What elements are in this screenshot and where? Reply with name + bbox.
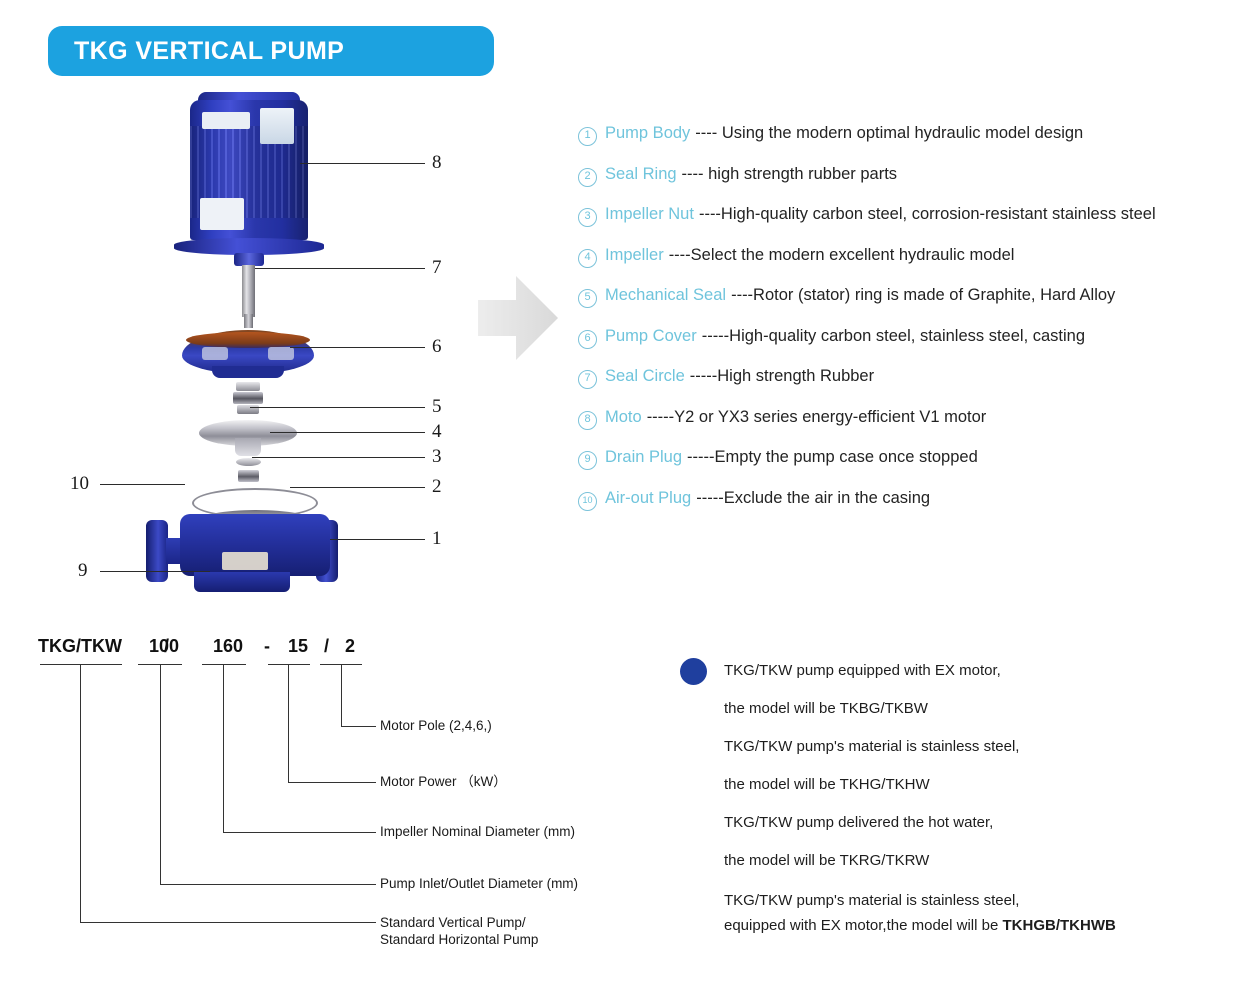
legend-desc-5: ----Rotor (stator) ring is made of Graph… <box>731 286 1115 305</box>
legend-label-6: Pump Cover <box>605 327 697 346</box>
legend-item-7: 7 Seal Circle -----High strength Rubber <box>578 367 1228 408</box>
legend-desc-10: -----Exclude the air in the casing <box>696 489 930 508</box>
bracket-underline-series <box>40 664 122 665</box>
callout-number-3: 3 <box>432 446 442 468</box>
bracket-underline-impeller <box>202 664 246 665</box>
leader-line-1 <box>330 539 425 540</box>
legend-number-6: 6 <box>578 330 597 349</box>
model-label-impeller: Impeller Nominal Diameter (mm) <box>380 823 575 840</box>
legend-label-4: Impeller <box>605 246 664 265</box>
impeller-hub <box>235 438 261 456</box>
model-segment-pole: 2 <box>332 636 368 657</box>
model-code-breakdown: TKG/TKW / 100 160 - 15 / 2 Motor Pole (2… <box>32 636 632 956</box>
bracket-run-impeller <box>223 832 376 833</box>
leader-line-3 <box>252 457 425 458</box>
note-line-3: TKG/TKW pump's material is stainless ste… <box>724 728 1225 766</box>
legend-desc-2: ---- high strength rubber parts <box>682 165 898 184</box>
leader-line-10 <box>100 484 185 485</box>
poster-canvas: TKG VERTICAL PUMP <box>0 0 1234 1000</box>
page-title: TKG VERTICAL PUMP <box>74 37 344 66</box>
impeller-part <box>199 420 297 446</box>
impeller-washer <box>236 458 261 466</box>
legend-number-9: 9 <box>578 451 597 470</box>
model-label-series: Standard Vertical Pump/ Standard Horizon… <box>380 914 538 948</box>
model-label-series-line1: Standard Vertical Pump/ <box>380 915 526 930</box>
legend-label-8: Moto <box>605 408 642 427</box>
note-line-6: the model will be TKRG/TKRW <box>724 842 1225 880</box>
legend-item-10: 10 Air-out Plug -----Exclude the air in … <box>578 489 1228 530</box>
leader-line-4 <box>270 432 425 433</box>
legend-label-10: Air-out Plug <box>605 489 691 508</box>
bracket-run-series <box>80 922 376 923</box>
model-label-power: Motor Power （kW） <box>380 773 507 790</box>
model-segment-impeller: 160 <box>200 636 256 657</box>
legend-desc-7: -----High strength Rubber <box>690 367 874 386</box>
parts-legend: 1 Pump Body ---- Using the modern optima… <box>578 124 1228 529</box>
callout-number-7: 7 <box>432 257 442 279</box>
legend-number-3: 3 <box>578 208 597 227</box>
model-segment-series: TKG/TKW <box>32 636 128 657</box>
bracket-drop-power <box>288 664 289 782</box>
legend-desc-8: -----Y2 or YX3 series energy-efficient V… <box>647 408 987 427</box>
legend-number-7: 7 <box>578 370 597 389</box>
legend-number-1: 1 <box>578 127 597 146</box>
motor-shaft <box>242 265 255 317</box>
shaft-tip <box>244 314 253 328</box>
page-title-badge: TKG VERTICAL PUMP <box>48 26 494 76</box>
bracket-drop-impeller <box>223 664 224 832</box>
flow-arrow-icon <box>478 272 558 364</box>
model-variant-notes: TKG/TKW pump equipped with EX motor, the… <box>680 652 1225 938</box>
legend-number-2: 2 <box>578 168 597 187</box>
legend-label-5: Mechanical Seal <box>605 286 726 305</box>
callout-number-1: 1 <box>432 528 442 550</box>
legend-item-1: 1 Pump Body ---- Using the modern optima… <box>578 124 1228 165</box>
legend-desc-9: -----Empty the pump case once stopped <box>687 448 978 467</box>
legend-number-10: 10 <box>578 492 597 511</box>
legend-desc-3: ----High-quality carbon steel, corrosion… <box>699 205 1156 224</box>
model-label-series-line2: Standard Horizontal Pump <box>380 932 538 947</box>
bracket-drop-pole <box>341 664 342 726</box>
leader-line-6 <box>290 347 425 348</box>
callout-number-8: 8 <box>432 152 442 174</box>
pump-cover-part <box>182 330 314 374</box>
callout-number-9: 9 <box>78 560 88 582</box>
note-line-2: the model will be TKBG/TKBW <box>724 690 1225 728</box>
bracket-run-power <box>288 782 376 783</box>
legend-desc-6: -----High-quality carbon steel, stainles… <box>702 327 1085 346</box>
pump-body-nameplate <box>222 552 268 570</box>
motor-side-plate <box>200 198 244 230</box>
motor-nameplate <box>202 112 250 129</box>
pump-cover-window-left <box>202 347 228 360</box>
callout-number-6: 6 <box>432 336 442 358</box>
leader-line-9 <box>100 571 210 572</box>
mechanical-seal-top <box>236 382 260 391</box>
model-separator-2: - <box>264 636 270 657</box>
bullet-icon <box>680 658 707 685</box>
callout-number-2: 2 <box>432 476 442 498</box>
legend-item-2: 2 Seal Ring ---- high strength rubber pa… <box>578 165 1228 206</box>
legend-label-3: Impeller Nut <box>605 205 694 224</box>
bracket-run-pole <box>341 726 376 727</box>
leader-line-8 <box>300 163 425 164</box>
mechanical-seal-part <box>233 392 263 404</box>
model-label-pole: Motor Pole (2,4,6,) <box>380 717 492 734</box>
callout-number-4: 4 <box>432 421 442 443</box>
note-line-8: equipped with EX motor,the model will be… <box>724 913 1225 938</box>
legend-item-9: 9 Drain Plug -----Empty the pump case on… <box>578 448 1228 489</box>
model-label-inlet: Pump Inlet/Outlet Diameter (mm) <box>380 875 578 892</box>
note-line-7: TKG/TKW pump's material is stainless ste… <box>724 888 1225 913</box>
pump-cover-base <box>212 366 284 378</box>
leader-line-2 <box>290 487 425 488</box>
model-segment-inlet: 100 <box>136 636 192 657</box>
pump-flange-left <box>146 520 168 582</box>
exploded-pump-diagram <box>70 90 490 600</box>
legend-item-5: 5 Mechanical Seal ----Rotor (stator) rin… <box>578 286 1228 327</box>
note-line-8-prefix: equipped with EX motor,the model will be <box>724 917 1003 934</box>
note-line-5: TKG/TKW pump delivered the hot water, <box>724 804 1225 842</box>
motor-terminal-box <box>260 108 294 144</box>
motor-housing <box>190 100 308 240</box>
legend-item-3: 3 Impeller Nut ----High-quality carbon s… <box>578 205 1228 246</box>
legend-item-6: 6 Pump Cover -----High-quality carbon st… <box>578 327 1228 368</box>
note-line-8-model: TKHGB/TKHWB <box>1003 917 1116 934</box>
callout-number-5: 5 <box>432 396 442 418</box>
legend-label-1: Pump Body <box>605 124 690 143</box>
legend-label-9: Drain Plug <box>605 448 682 467</box>
bracket-run-inlet <box>160 884 376 885</box>
legend-label-2: Seal Ring <box>605 165 677 184</box>
pump-base-foot <box>194 572 290 592</box>
legend-item-8: 8 Moto -----Y2 or YX3 series energy-effi… <box>578 408 1228 449</box>
callout-number-10: 10 <box>70 473 89 495</box>
bracket-drop-series <box>80 664 81 922</box>
legend-number-5: 5 <box>578 289 597 308</box>
leader-line-7 <box>255 268 425 269</box>
model-segment-power: 15 <box>276 636 320 657</box>
impeller-nut-part <box>238 470 259 482</box>
note-line-1: TKG/TKW pump equipped with EX motor, <box>724 652 1225 690</box>
legend-desc-1: ---- Using the modern optimal hydraulic … <box>695 124 1083 143</box>
bracket-drop-inlet <box>160 664 161 884</box>
legend-label-7: Seal Circle <box>605 367 685 386</box>
pump-cover-window-right <box>268 347 294 360</box>
legend-item-4: 4 Impeller ----Select the modern excelle… <box>578 246 1228 287</box>
note-line-4: the model will be TKHG/TKHW <box>724 766 1225 804</box>
legend-number-8: 8 <box>578 411 597 430</box>
legend-number-4: 4 <box>578 249 597 268</box>
leader-line-5 <box>250 407 425 408</box>
model-separator-3: / <box>324 636 329 657</box>
legend-desc-4: ----Select the modern excellent hydrauli… <box>669 246 1015 265</box>
pump-cover-rim <box>186 332 310 348</box>
bracket-underline-power <box>268 664 310 665</box>
